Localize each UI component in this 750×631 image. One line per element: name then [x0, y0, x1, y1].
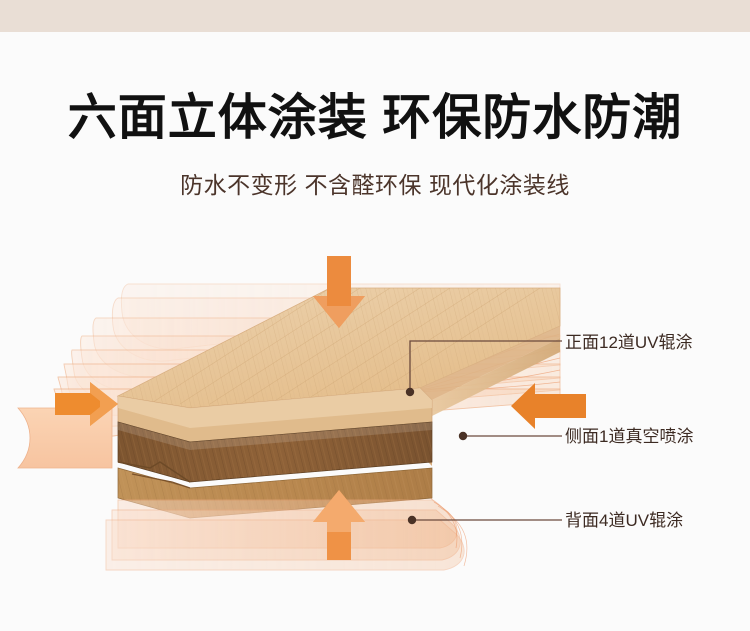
dot-side	[459, 432, 467, 440]
callout-label-back: 背面4道UV辊涂	[565, 511, 683, 531]
page-title: 六面立体涂装 环保防水防潮	[0, 88, 750, 148]
dot-back	[408, 516, 416, 524]
promo-banner: 六面立体涂装 环保防水防潮 防水不变形 不含醛环保 现代化涂装线	[0, 0, 750, 631]
callout-label-side: 侧面1道真空喷涂	[565, 427, 693, 447]
coating-layers-bottom	[106, 498, 467, 570]
callout-label-front: 正面12道UV辊涂	[565, 333, 693, 353]
top-color-band	[0, 0, 750, 32]
dot-front	[406, 388, 414, 396]
page-subtitle: 防水不变形 不含醛环保 现代化涂装线	[0, 168, 750, 202]
